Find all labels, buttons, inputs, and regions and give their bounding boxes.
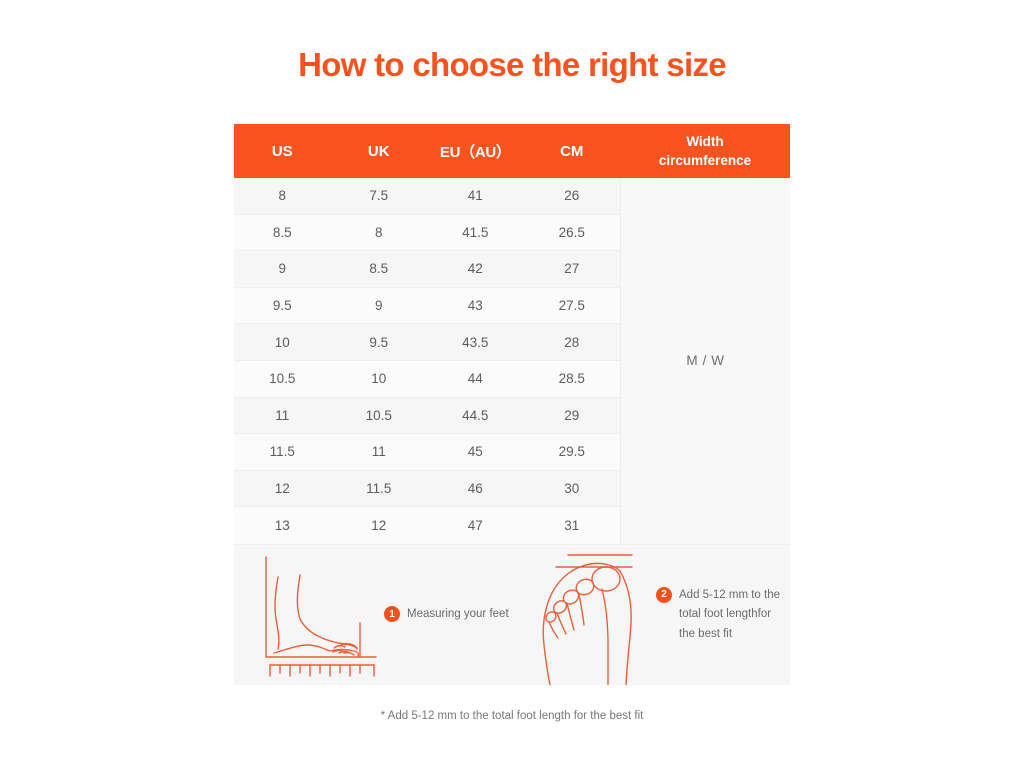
step-1-label: Measuring your feet: [407, 605, 509, 625]
cell-uk: 8: [331, 225, 428, 240]
column-header-uk: UK: [331, 124, 428, 178]
column-header-cm: CM: [524, 124, 621, 178]
width-header-line-2: circumference: [659, 153, 751, 168]
cell-eu: 41.5: [427, 225, 524, 240]
cell-uk: 10.5: [331, 408, 428, 423]
size-chart-table: US UK EU（AU） CM Width circumference 8 7.…: [234, 124, 790, 685]
cell-cm: 26.5: [524, 225, 621, 240]
cell-uk: 10: [331, 371, 428, 386]
cell-cm: 26: [524, 188, 621, 203]
table-header-row: US UK EU（AU） CM Width circumference: [234, 124, 790, 178]
table-row: 8.5 8 41.5 26.5: [234, 215, 620, 252]
table-row: 10.5 10 44 28.5: [234, 361, 620, 398]
cell-cm: 30: [524, 481, 621, 496]
cell-us: 11.5: [234, 444, 331, 459]
cell-uk: 9: [331, 298, 428, 313]
footnote-text: * Add 5-12 mm to the total foot length f…: [0, 710, 1024, 722]
step-2-badge: 2: [656, 587, 672, 603]
cell-us: 10: [234, 335, 331, 350]
cell-eu: 47: [427, 518, 524, 533]
cell-eu: 46: [427, 481, 524, 496]
cell-us: 13: [234, 518, 331, 533]
cell-us: 8.5: [234, 225, 331, 240]
table-row: 9.5 9 43 27.5: [234, 288, 620, 325]
width-circumference-cell: M / W: [620, 178, 790, 544]
width-value: M / W: [686, 353, 724, 368]
cell-cm: 28: [524, 335, 621, 350]
cell-eu: 43: [427, 298, 524, 313]
cell-uk: 7.5: [331, 188, 428, 203]
cell-uk: 11: [331, 444, 428, 459]
cell-cm: 27.5: [524, 298, 621, 313]
size-columns-group: 8 7.5 41 26 8.5 8 41.5 26.5 9 8.5 42 27 …: [234, 178, 620, 544]
cell-us: 12: [234, 481, 331, 496]
cell-cm: 29: [524, 408, 621, 423]
table-row: 12 11.5 46 30: [234, 471, 620, 508]
cell-eu: 44.5: [427, 408, 524, 423]
cell-eu: 42: [427, 261, 524, 276]
table-row: 8 7.5 41 26: [234, 178, 620, 215]
table-row: 10 9.5 43.5 28: [234, 324, 620, 361]
instructions-row: 1 Measuring your feet: [234, 544, 790, 685]
cell-cm: 31: [524, 518, 621, 533]
cell-uk: 11.5: [331, 481, 428, 496]
foot-side-profile-with-ruler-icon: [234, 545, 384, 685]
table-row: 9 8.5 42 27: [234, 251, 620, 288]
cell-us: 9.5: [234, 298, 331, 313]
cell-eu: 45: [427, 444, 524, 459]
step-1-badge: 1: [384, 606, 400, 622]
cell-cm: 28.5: [524, 371, 621, 386]
instruction-step-2: 2 Add 5-12 mm to the total foot lengthfo…: [524, 545, 790, 685]
table-body: 8 7.5 41 26 8.5 8 41.5 26.5 9 8.5 42 27 …: [234, 178, 790, 544]
step-2-text-group: 2 Add 5-12 mm to the total foot lengthfo…: [656, 586, 790, 645]
column-header-width-circumference: Width circumference: [620, 124, 790, 178]
table-row: 13 12 47 31: [234, 507, 620, 544]
table-row: 11 10.5 44.5 29: [234, 398, 620, 435]
cell-us: 10.5: [234, 371, 331, 386]
column-header-eu-au: EU（AU）: [427, 124, 524, 178]
cell-eu: 44: [427, 371, 524, 386]
cell-cm: 29.5: [524, 444, 621, 459]
cell-uk: 8.5: [331, 261, 428, 276]
width-header-line-1: Width: [686, 134, 723, 149]
cell-us: 8: [234, 188, 331, 203]
cell-us: 11: [234, 408, 331, 423]
cell-cm: 27: [524, 261, 621, 276]
instruction-step-1: 1 Measuring your feet: [234, 545, 524, 685]
cell-eu: 41: [427, 188, 524, 203]
foot-top-view-with-measure-lines-icon: [524, 545, 656, 685]
column-header-us: US: [234, 124, 331, 178]
cell-uk: 9.5: [331, 335, 428, 350]
page-title: How to choose the right size: [0, 46, 1024, 84]
cell-eu: 43.5: [427, 335, 524, 350]
step-1-text-group: 1 Measuring your feet: [384, 605, 524, 625]
cell-uk: 12: [331, 518, 428, 533]
table-row: 11.5 11 45 29.5: [234, 434, 620, 471]
cell-us: 9: [234, 261, 331, 276]
step-2-label: Add 5-12 mm to the total foot lengthfor …: [679, 586, 783, 645]
